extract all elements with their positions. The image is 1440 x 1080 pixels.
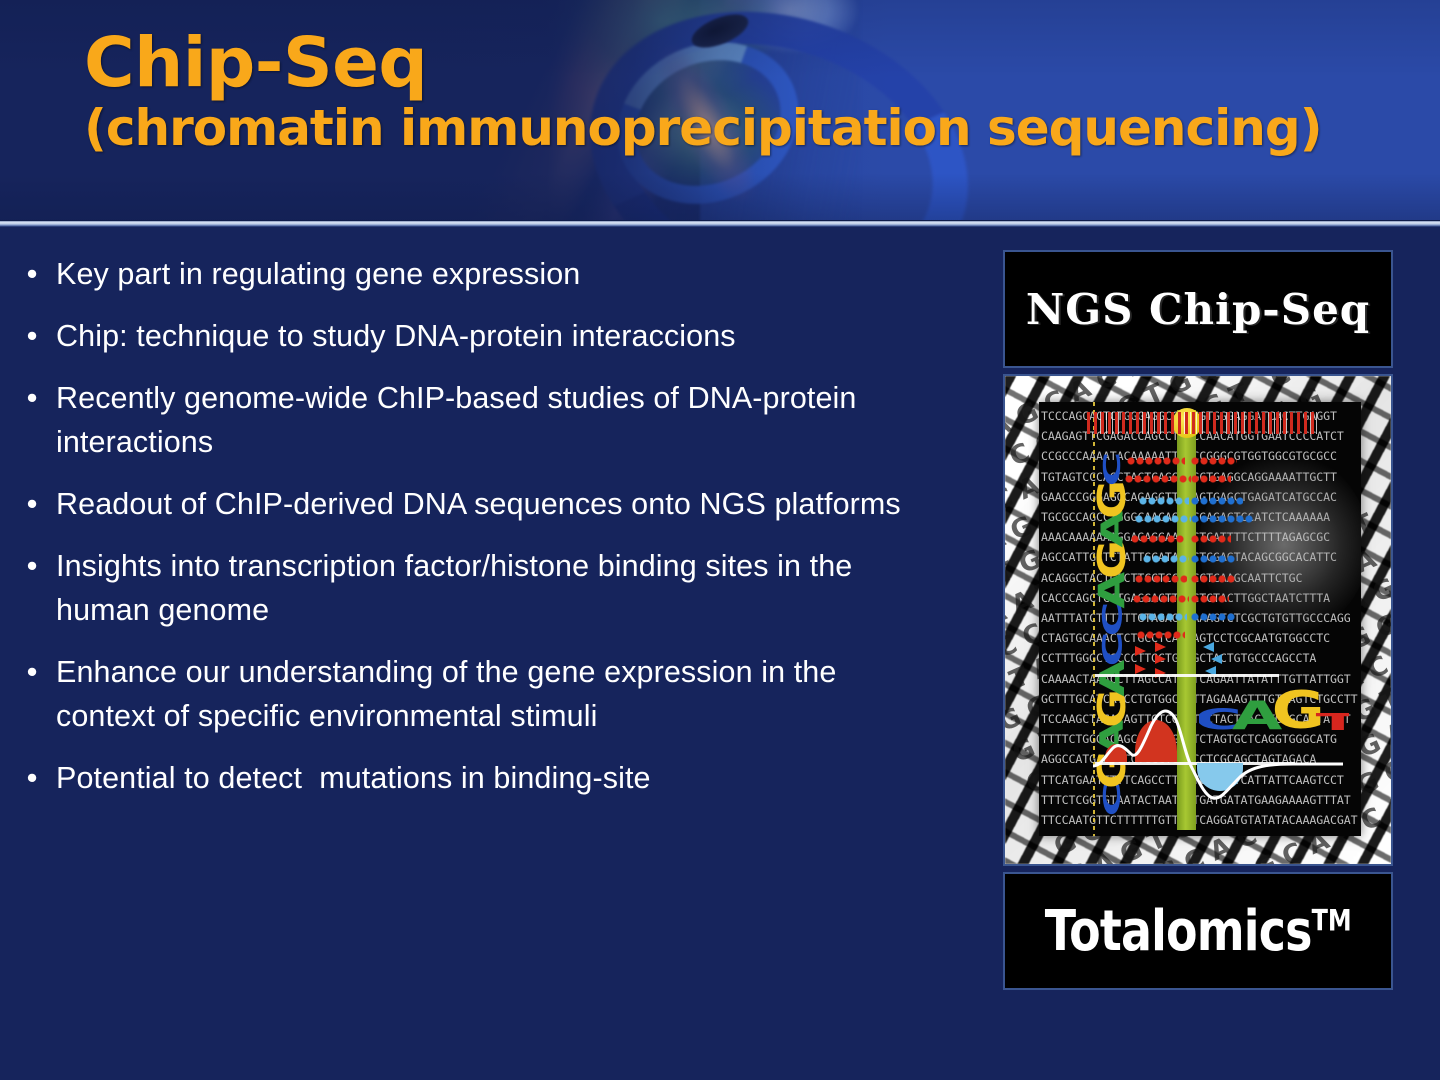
chipseq-figure: TCCCAGCACTCTGGGAGGCCGAGGTGGGAGGATCACTTGA… (1003, 374, 1393, 866)
bullet-marker: • (0, 482, 56, 526)
panel-title-text: NGS Chip-Seq (1026, 285, 1370, 334)
strand-squiggle-red (1191, 592, 1229, 605)
bullet-marker: • (0, 252, 56, 296)
ngs-chipseq-image-panel: NGS Chip-Seq TCCCAGCACTCTGGGAGGCCGAGGTGG… (1003, 250, 1393, 990)
read-arrow-forward (1155, 642, 1166, 652)
strand-squiggle-red (1137, 628, 1185, 641)
bullet-text: Recently genome-wide ChIP-based studies … (56, 376, 960, 464)
strand-squiggle-red (1131, 532, 1185, 545)
strand-squiggle-blue (1139, 610, 1187, 623)
slide-canvas: Chip-Seq (chromatin immunoprecipitation … (0, 0, 1440, 1080)
sequence-plate: TCCCAGCACTCTGGGAGGCCGAGGTGGGAGGATCACTTGA… (1039, 402, 1361, 836)
logo-letter-C: C (1104, 452, 1122, 487)
read-arrow-forward (1155, 654, 1166, 664)
list-item: • Insights into transcription factor/his… (0, 544, 960, 632)
enrichment-trace-curve (1093, 704, 1343, 814)
strand-squiggle-red (1191, 532, 1231, 545)
trace-baseline-top (1095, 674, 1279, 677)
dna-duplex-schematic (1087, 412, 1317, 434)
panel-brand-band: TotalomicsTM (1003, 872, 1393, 990)
page-title: Chip-Seq (chromatin immunoprecipitation … (84, 28, 1322, 155)
bullet-text: Insights into transcription factor/histo… (56, 544, 960, 632)
bullet-marker: • (0, 650, 56, 694)
read-arrow-forward (1135, 646, 1146, 656)
bullet-text: Key part in regulating gene expression (56, 252, 960, 296)
list-item: • Readout of ChIP-derived DNA sequences … (0, 482, 960, 526)
title-main-line: Chip-Seq (84, 28, 1322, 98)
read-arrow-reverse (1203, 642, 1214, 652)
strand-squiggle-red (1191, 454, 1237, 467)
brand-name-text: TotalomicsTM (1045, 899, 1352, 964)
strand-squiggle-red (1133, 592, 1189, 605)
bullet-marker: • (0, 756, 56, 800)
strand-squiggle-blue (1191, 512, 1253, 525)
list-item: • Potential to detect mutations in bindi… (0, 756, 960, 800)
bullet-marker: • (0, 376, 56, 420)
strand-squiggle-blue (1191, 552, 1237, 565)
bullet-text: Chip: technique to study DNA-protein int… (56, 314, 960, 358)
strand-squiggle-blue (1191, 610, 1235, 623)
bullet-marker: • (0, 544, 56, 588)
list-item: • Recently genome-wide ChIP-based studie… (0, 376, 960, 464)
strand-squiggle-blue (1135, 512, 1191, 525)
bullet-text: Readout of ChIP-derived DNA sequences on… (56, 482, 960, 526)
strand-squiggle-red (1125, 472, 1191, 485)
bullet-text: Enhance our understanding of the gene ex… (56, 650, 960, 738)
strand-squiggle-blue (1139, 494, 1189, 507)
read-arrow-forward (1135, 664, 1146, 674)
strand-squiggle-blue (1143, 552, 1189, 565)
bullet-text: Potential to detect mutations in binding… (56, 756, 960, 800)
title-subtitle-line: (chromatin immunoprecipitation sequencin… (84, 102, 1322, 155)
strand-squiggle-red (1127, 454, 1185, 467)
panel-title-band: NGS Chip-Seq (1003, 250, 1393, 368)
list-item: • Key part in regulating gene expression (0, 252, 960, 296)
header-divider (0, 220, 1440, 227)
vertical-sequence-logo-top: CAGAGC (1084, 444, 1128, 644)
strand-squiggle-blue (1191, 494, 1243, 507)
list-item: • Enhance our understanding of the gene … (0, 650, 960, 738)
strand-squiggle-red (1191, 472, 1231, 485)
strand-squiggle-red (1135, 572, 1187, 585)
strand-squiggle-red (1191, 572, 1235, 585)
bullet-marker: • (0, 314, 56, 358)
list-item: • Chip: technique to study DNA-protein i… (0, 314, 960, 358)
logo-letter-C: C (1103, 632, 1124, 667)
bullet-list: • Key part in regulating gene expression… (0, 252, 960, 818)
